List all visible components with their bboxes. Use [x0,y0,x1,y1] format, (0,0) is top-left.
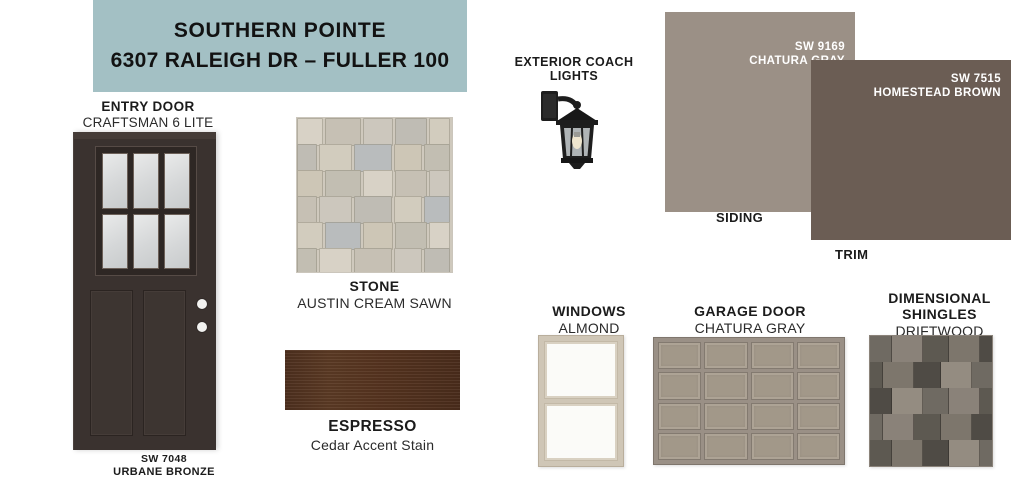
siding-caption: SIDING [716,210,763,225]
trim-paint-name: HOMESTEAD BROWN [874,86,1001,100]
garage-door-panel [797,372,840,399]
community-name: SOUTHERN POINTE [174,19,386,43]
shingle-tab [949,388,979,415]
stone-course [297,196,452,222]
entry-door-image [73,132,216,450]
stone-block [297,196,317,224]
stone-block [297,248,317,272]
shingles-title-line2: SHINGLES [862,306,1017,322]
shingle-course [869,440,993,466]
stone-block [354,144,392,172]
garage-door-panel [704,403,747,430]
entry-door-title: ENTRY DOOR [33,99,263,114]
door-lower-panels [90,290,186,436]
trim-swatch: SW 7515 HOMESTEAD BROWN [811,60,1011,240]
garage-door-panel [704,342,747,369]
garage-door-panel [751,433,794,460]
window-lower-sash [544,403,618,461]
door-pane [164,214,190,270]
door-pane [133,214,159,270]
stone-block [297,170,323,198]
shingle-tab [980,388,993,415]
garage-door-panel [797,342,840,369]
trim-caption: TRIM [835,247,868,262]
shingle-course [869,336,993,362]
entry-door-paint-code: SW 7048 [73,453,255,465]
shingle-tab [869,440,892,467]
garage-door-panel [658,342,701,369]
stain-sample-image [285,350,460,410]
stone-course [297,248,452,272]
stone-block [363,118,393,146]
shingle-tab [949,336,979,363]
window-image [538,335,624,467]
stone-course [297,222,452,248]
stain-name: Cedar Accent Stain [275,437,470,453]
door-glass-grid [102,153,190,269]
shingle-tab [949,440,979,467]
garage-door-panel [658,433,701,460]
shingle-tab [869,336,892,363]
shingle-course [869,414,993,440]
stone-block [424,196,450,224]
door-knob-icon [197,299,207,309]
stone-block [319,144,352,172]
shingle-tab [941,362,972,389]
shingle-tab [972,414,993,441]
trim-paint-code: SW 7515 [874,72,1001,86]
coach-lights-section: EXTERIOR COACH LIGHTS [489,55,659,83]
garage-door-panel [751,372,794,399]
shingle-tab [914,414,941,441]
shingle-tab [923,440,949,467]
stone-block [354,196,392,224]
stone-block [394,196,422,224]
shingles-caption: DIMENSIONAL SHINGLES DRIFTWOOD [862,290,1017,340]
stone-block [297,222,323,250]
garage-door-name: CHATURA GRAY [660,320,840,337]
stone-block [319,248,352,272]
door-pane [164,153,190,209]
entry-door-paint-label: SW 7048 URBANE BRONZE [73,453,255,478]
shingle-tab [972,362,993,389]
header-banner: SOUTHERN POINTE 6307 RALEIGH DR – FULLER… [93,0,467,92]
stain-title: ESPRESSO [275,418,470,436]
stone-block [395,118,427,146]
stone-block [424,248,450,272]
coach-lantern-icon [531,75,617,171]
shingles-image [869,335,993,467]
siding-paint-code: SW 9169 [749,40,845,54]
shingle-tab [914,362,941,389]
shingle-tab [923,336,949,363]
shingle-tab [869,388,892,415]
stone-block [363,222,393,250]
shingle-tab [869,414,883,441]
stone-block [325,118,360,146]
garage-door-panel [751,403,794,430]
shingle-tab [892,440,922,467]
garage-door-panel [797,403,840,430]
garage-door-title: GARAGE DOOR [660,303,840,319]
garage-door-panel [797,433,840,460]
door-lite-frame [95,146,197,276]
door-panel [90,290,133,436]
garage-door-panel [751,342,794,369]
shingle-course [869,388,993,414]
shingles-title-line1: DIMENSIONAL [862,290,1017,306]
shingle-tab [883,414,914,441]
stone-block [319,196,352,224]
door-pane [133,153,159,209]
garage-door-caption: GARAGE DOOR CHATURA GRAY [660,303,840,337]
stain-caption: ESPRESSO Cedar Accent Stain [275,418,470,453]
shingle-tab [883,362,914,389]
stone-block [354,248,392,272]
stone-block [424,144,450,172]
stone-block [429,118,450,146]
door-deadbolt-icon [197,322,207,332]
entry-door-section: ENTRY DOOR CRAFTSMAN 6 LITE S [33,99,263,130]
shingle-tab [980,440,993,467]
windows-title: WINDOWS [519,303,659,319]
stone-caption: STONE AUSTIN CREAM SAWN [282,278,467,311]
door-pane [102,153,128,209]
entry-door-paint-name: URBANE BRONZE [73,466,255,478]
stone-block [325,222,360,250]
shingle-tab [941,414,972,441]
stone-block [325,170,360,198]
stone-block [394,144,422,172]
stone-block [429,170,450,198]
stone-image [297,118,452,272]
stone-course [297,170,452,196]
stone-block [297,118,323,146]
window-upper-sash [544,341,618,399]
door-pane [102,214,128,270]
shingle-tab [869,362,883,389]
entry-door-style: CRAFTSMAN 6 LITE [33,115,263,130]
stone-block [429,222,450,250]
stone-course [297,118,452,144]
door-panel [143,290,186,436]
shingle-tab [892,336,922,363]
windows-caption: WINDOWS ALMOND [519,303,659,337]
shingle-tab [980,336,993,363]
shingle-course [869,362,993,388]
garage-door-panel [704,372,747,399]
stone-block [395,222,427,250]
garage-door-panel [704,433,747,460]
stone-block [363,170,393,198]
address-line: 6307 RALEIGH DR – FULLER 100 [111,49,450,73]
trim-paint-code-block: SW 7515 HOMESTEAD BROWN [874,72,1001,101]
exterior-selections-board: SOUTHERN POINTE 6307 RALEIGH DR – FULLER… [0,0,1024,473]
stone-block [395,170,427,198]
stone-course [297,144,452,170]
shingle-tab [892,388,922,415]
stone-title: STONE [282,278,467,294]
shingle-tab [923,388,949,415]
garage-door-image [653,337,845,465]
garage-door-panel [658,372,701,399]
stone-block [297,144,317,172]
stone-name: AUSTIN CREAM SAWN [282,295,467,311]
stone-block [394,248,422,272]
garage-door-panel [658,403,701,430]
